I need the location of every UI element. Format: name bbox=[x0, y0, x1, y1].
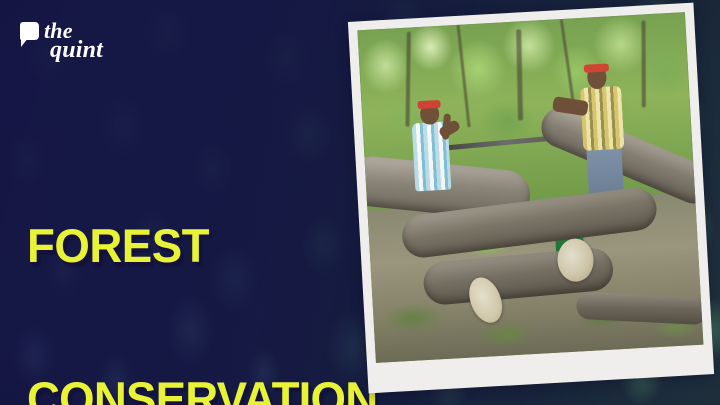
headline-line-1: FOREST bbox=[27, 220, 377, 271]
brand-logo[interactable]: the quint bbox=[20, 20, 140, 66]
photo-frame bbox=[348, 3, 714, 394]
speech-bubble-icon bbox=[20, 22, 39, 40]
headline-line-2: CONSERVATION bbox=[27, 373, 377, 405]
thumbnail-canvas: the quint FOREST CONSERVATION ACT 1980 bbox=[0, 0, 720, 405]
photo-deforestation bbox=[357, 12, 703, 363]
photo-color-grade bbox=[357, 12, 703, 363]
brand-name-quint: quint bbox=[50, 37, 103, 64]
headline: FOREST CONSERVATION ACT 1980 bbox=[27, 118, 377, 405]
